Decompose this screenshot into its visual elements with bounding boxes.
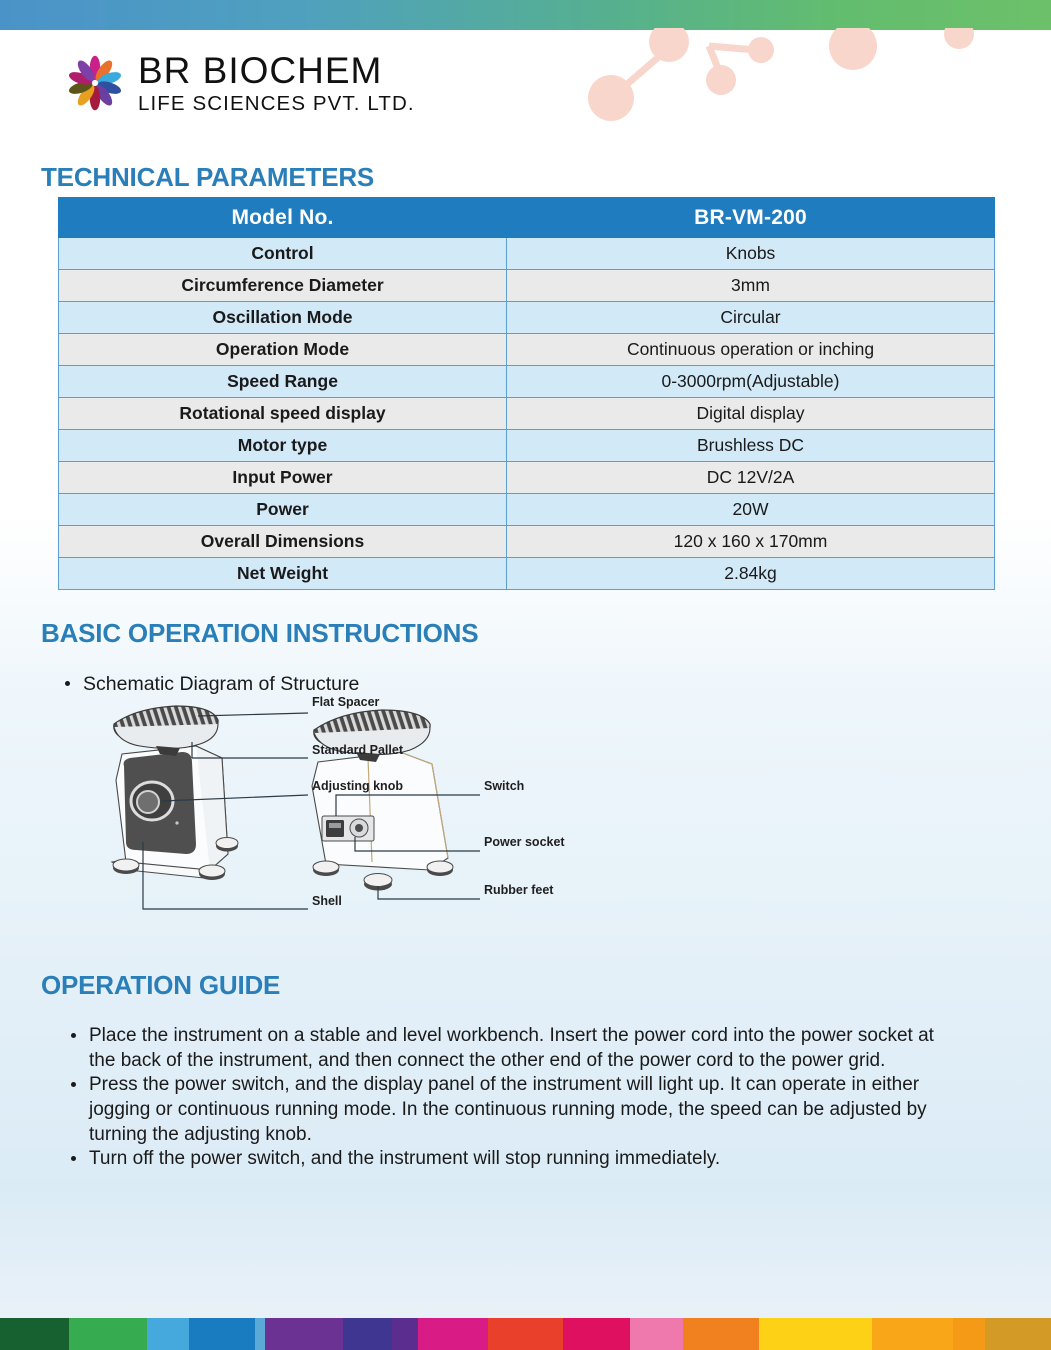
table-cell-value: 20W — [507, 494, 995, 526]
section-title-basic-operation-instructions: BASIC OPERATION INSTRUCTIONS — [41, 618, 478, 649]
table-row: Overall Dimensions120 x 160 x 170mm — [59, 526, 995, 558]
diagram-label-adjusting-knob: Adjusting knob — [312, 779, 403, 793]
table-cell-value: 0-3000rpm(Adjustable) — [507, 366, 995, 398]
list-item: Place the instrument on a stable and lev… — [62, 1024, 952, 1073]
table-row: Motor typeBrushless DC — [59, 430, 995, 462]
table-cell-value: 3mm — [507, 270, 995, 302]
table-row: Net Weight2.84kg — [59, 558, 995, 590]
table-cell-key: Speed Range — [59, 366, 507, 398]
operation-guide-list: Place the instrument on a stable and lev… — [62, 1024, 952, 1172]
color-swatch — [255, 1318, 264, 1350]
diagram-label-rubber-feet: Rubber feet — [484, 883, 554, 897]
table-row: Oscillation ModeCircular — [59, 302, 995, 334]
molecule-decoration — [581, 28, 1051, 143]
top-gradient-bar — [0, 0, 1051, 30]
brand-tagline: LIFE SCIENCES PVT. LTD. — [138, 94, 415, 115]
color-swatch — [392, 1318, 418, 1350]
color-swatch — [265, 1318, 343, 1350]
table-cell-key: Input Power — [59, 462, 507, 494]
color-swatch — [985, 1318, 1051, 1350]
table-header-model-no: Model No. — [59, 198, 507, 238]
table-cell-key: Operation Mode — [59, 334, 507, 366]
list-item: Turn off the power switch, and the instr… — [62, 1147, 952, 1172]
table-cell-key: Power — [59, 494, 507, 526]
table-cell-value: Brushless DC — [507, 430, 995, 462]
color-swatch — [683, 1318, 760, 1350]
color-swatch — [630, 1318, 682, 1350]
color-swatch — [759, 1318, 872, 1350]
table-row: ControlKnobs — [59, 238, 995, 270]
table-cell-key: Control — [59, 238, 507, 270]
color-swatch — [343, 1318, 393, 1350]
color-swatch — [872, 1318, 952, 1350]
table-cell-key: Overall Dimensions — [59, 526, 507, 558]
schematic-diagram-of-structure: Flat Spacer Standard Pallet Adjusting kn… — [100, 694, 580, 919]
table-cell-value: 2.84kg — [507, 558, 995, 590]
table-row: Input PowerDC 12V/2A — [59, 462, 995, 494]
color-swatch — [69, 1318, 147, 1350]
table-cell-value: Knobs — [507, 238, 995, 270]
section-title-technical-parameters: TECHNICAL PARAMETERS — [41, 162, 374, 193]
table-cell-value: Continuous operation or inching — [507, 334, 995, 366]
diagram-label-switch: Switch — [484, 779, 524, 793]
diagram-right-unit — [312, 710, 453, 891]
color-swatch — [147, 1318, 189, 1350]
bottom-color-bar — [0, 1318, 1051, 1350]
diagram-left-unit — [112, 706, 238, 880]
technical-parameters-table: Model No. BR-VM-200 ControlKnobsCircumfe… — [58, 197, 995, 590]
table-cell-value: 120 x 160 x 170mm — [507, 526, 995, 558]
table-cell-key: Oscillation Mode — [59, 302, 507, 334]
table-row: Speed Range0-3000rpm(Adjustable) — [59, 366, 995, 398]
pinwheel-petals-logo-icon — [66, 54, 124, 112]
table-row: Power20W — [59, 494, 995, 526]
color-swatch — [953, 1318, 986, 1350]
table-row: Operation ModeContinuous operation or in… — [59, 334, 995, 366]
table-cell-key: Circumference Diameter — [59, 270, 507, 302]
color-swatch — [488, 1318, 563, 1350]
diagram-label-flat-spacer: Flat Spacer — [312, 695, 380, 709]
table-header-model-value: BR-VM-200 — [507, 198, 995, 238]
table-header-row: Model No. BR-VM-200 — [59, 198, 995, 238]
list-item: Press the power switch, and the display … — [62, 1073, 952, 1147]
table-row: Rotational speed displayDigital display — [59, 398, 995, 430]
table-cell-value: Circular — [507, 302, 995, 334]
table-cell-value: Digital display — [507, 398, 995, 430]
table-cell-key: Net Weight — [59, 558, 507, 590]
section-title-operation-guide: OPERATION GUIDE — [41, 970, 280, 1001]
table-cell-value: DC 12V/2A — [507, 462, 995, 494]
diagram-label-power-socket: Power socket — [484, 835, 565, 849]
color-swatch — [189, 1318, 255, 1350]
table-cell-key: Rotational speed display — [59, 398, 507, 430]
table-row: Circumference Diameter3mm — [59, 270, 995, 302]
color-swatch — [0, 1318, 69, 1350]
color-swatch — [418, 1318, 489, 1350]
brand-name: BR BIOCHEM — [138, 52, 415, 89]
diagram-label-standard-pallet: Standard Pallet — [312, 743, 404, 757]
company-logo: BR BIOCHEM LIFE SCIENCES PVT. LTD. — [66, 52, 415, 115]
table-cell-key: Motor type — [59, 430, 507, 462]
color-swatch — [563, 1318, 630, 1350]
diagram-label-shell: Shell — [312, 894, 342, 908]
